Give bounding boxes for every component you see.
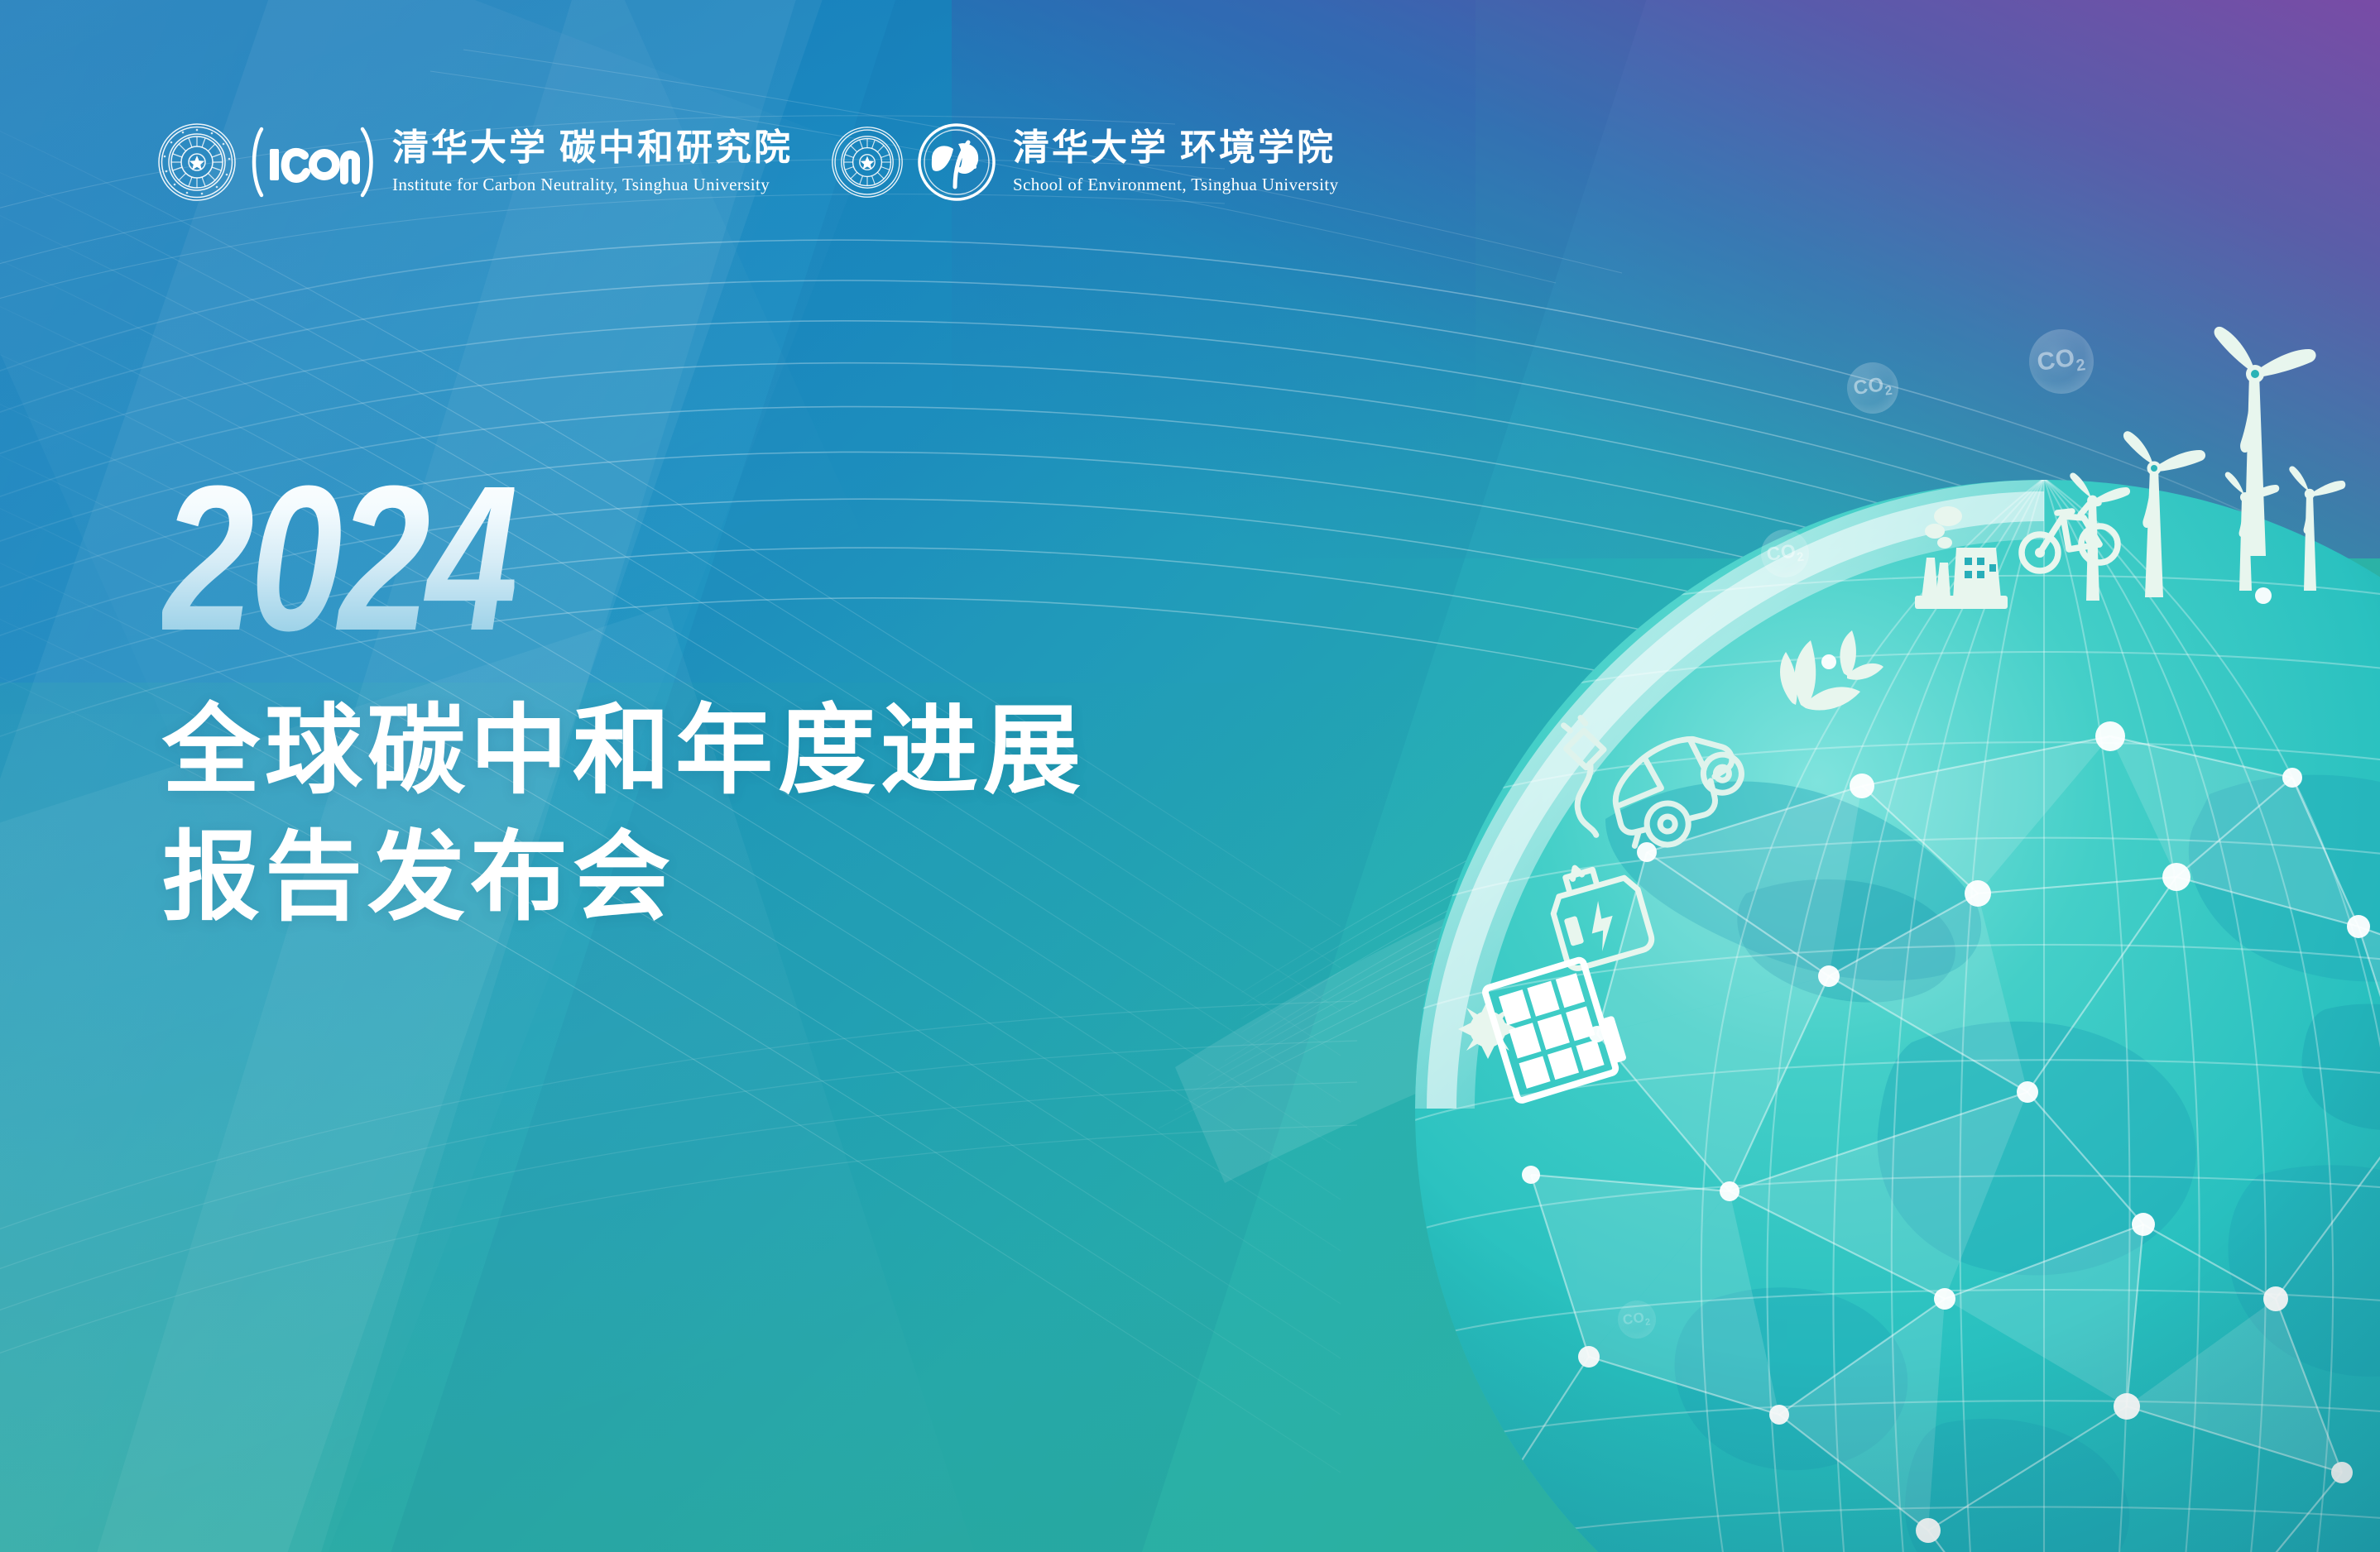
title-line-2: 报告发布会 [162, 815, 1486, 941]
logo-en-name: School of Environment, Tsinghua Universi… [1013, 175, 1339, 195]
logo-en-name: Institute for Carbon Neutrality, Tsinghu… [392, 175, 793, 195]
co2-subscript: 2 [1883, 384, 1893, 399]
logo-school-of-environment: 清华大学 环境学院 School of Environment, Tsinghu… [831, 122, 1339, 202]
title-line-1: 全球碳中和年度进展 [162, 688, 1486, 815]
co2-subscript: 2 [1645, 1317, 1652, 1328]
title-block: 2024 全球碳中和年度进展 报告发布会 [162, 463, 1486, 942]
co2-bubble: CO2 [2029, 329, 2094, 394]
co2-label: CO [1622, 1310, 1646, 1329]
co2-label: CO [1765, 539, 1797, 565]
tsinghua-seal-icon [831, 126, 904, 199]
poster-root: CO2 CO2 CO2 CO2 [0, 0, 2380, 1552]
logo-text-block: 清华大学 环境学院 School of Environment, Tsinghu… [1013, 129, 1339, 194]
co2-bubble: CO2 [1847, 362, 1898, 414]
tsinghua-seal-icon [157, 122, 237, 202]
co2-bubble: CO2 [1761, 529, 1809, 577]
leaf-emblem-icon [917, 122, 996, 202]
logo-bar: 清华大学 碳中和研究院 Institute for Carbon Neutral… [157, 122, 1339, 202]
icon-wordmark-icon [250, 124, 376, 200]
year-heading: 2024 [162, 463, 515, 654]
co2-bubble: CO2 [1618, 1301, 1656, 1339]
logo-institute-carbon-neutrality: 清华大学 碳中和研究院 Institute for Carbon Neutral… [157, 122, 793, 202]
logo-cn-name: 清华大学 碳中和研究院 [392, 129, 793, 167]
logo-cn-name: 清华大学 环境学院 [1013, 129, 1339, 167]
co2-label: CO [2036, 343, 2077, 376]
page-title: 全球碳中和年度进展 报告发布会 [162, 688, 1486, 942]
logo-text-block: 清华大学 碳中和研究院 Institute for Carbon Neutral… [392, 129, 793, 194]
co2-subscript: 2 [1796, 549, 1805, 564]
co2-subscript: 2 [2075, 356, 2087, 375]
co2-label: CO [1852, 373, 1885, 400]
